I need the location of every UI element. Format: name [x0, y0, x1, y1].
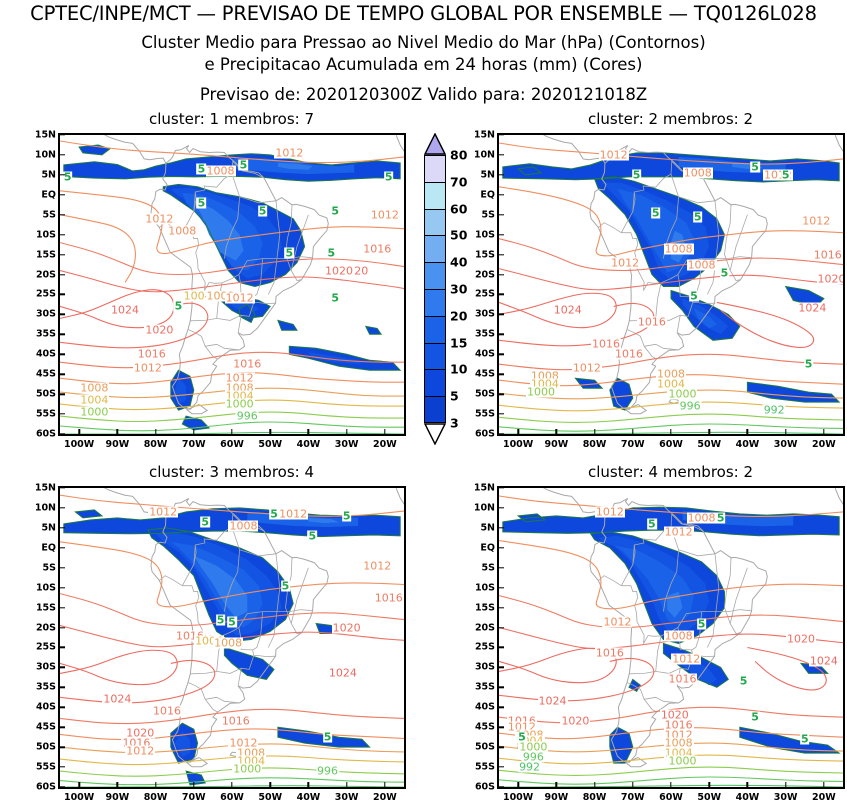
map-panel-cluster-2[interactable]: 1012100810121012100810121008101610201024…	[497, 133, 845, 436]
contour-label: 1016	[137, 349, 167, 360]
colorbar-tick-label: 5	[450, 389, 459, 404]
x-tick-mark	[270, 782, 271, 787]
y-tick-mark	[499, 726, 504, 727]
y-tick-mark	[60, 174, 65, 175]
y-tick-mark	[499, 214, 504, 215]
contour-label: 1012	[610, 257, 640, 268]
colorbar-arrow-high-outline	[424, 133, 446, 155]
contour-label: 1016	[667, 674, 697, 685]
y-axis-label: 45S	[26, 369, 56, 380]
x-axis-label: 90W	[544, 792, 568, 803]
x-tick-mark	[785, 782, 786, 787]
y-axis-label: 30S	[465, 662, 495, 673]
y-tick-mark	[60, 726, 65, 727]
y-tick-mark	[499, 433, 504, 434]
x-tick-mark	[308, 429, 309, 434]
x-tick-mark	[231, 782, 232, 787]
x-axis-label: 40W	[297, 439, 321, 450]
colorbar-segment	[424, 316, 446, 343]
y-axis-label: 5N	[465, 169, 495, 180]
x-axis-label: 60W	[220, 792, 244, 803]
y-tick-mark	[60, 587, 65, 588]
contour-label: 1016	[614, 349, 644, 360]
y-tick-mark	[499, 274, 504, 275]
precip-isoline-label: 5	[716, 512, 726, 523]
y-tick-mark	[60, 393, 65, 394]
precip-isoline-label: 5	[781, 169, 791, 180]
y-tick-mark	[499, 254, 504, 255]
contour-label: 1012	[362, 560, 392, 571]
x-tick-mark	[747, 429, 748, 434]
x-axis-label: 70W	[182, 792, 206, 803]
y-axis-label: 5N	[26, 522, 56, 533]
x-axis-label: 100W	[64, 439, 94, 450]
x-axis-label: 70W	[621, 792, 645, 803]
x-tick-mark	[517, 782, 518, 787]
contour-label: 1012	[144, 213, 174, 224]
y-tick-mark	[499, 487, 504, 488]
forecast-datetime-line: Previsao de: 2020120300Z Valido para: 20…	[0, 85, 847, 104]
y-tick-mark	[60, 433, 65, 434]
y-axis-label: 50S	[26, 389, 56, 400]
precip-isoline-label: 5	[327, 247, 337, 258]
x-tick-mark	[632, 782, 633, 787]
y-tick-mark	[60, 294, 65, 295]
precip-isoline-label: 5	[174, 301, 184, 312]
contour-label: 1016	[637, 317, 667, 328]
contour-label: 1008	[167, 225, 197, 236]
x-tick-mark	[594, 782, 595, 787]
y-tick-mark	[499, 413, 504, 414]
y-tick-mark	[499, 194, 504, 195]
y-tick-mark	[499, 234, 504, 235]
y-tick-mark	[60, 567, 65, 568]
x-tick-mark	[556, 782, 557, 787]
contour-label: 1024	[553, 305, 583, 316]
y-axis-label: 25S	[465, 289, 495, 300]
colorbar-segment	[424, 369, 446, 396]
y-axis-label: 10S	[26, 582, 56, 593]
contour-label: 1012	[125, 746, 155, 757]
contour-label: 1000	[667, 389, 697, 400]
y-axis-label: 15N	[465, 483, 495, 494]
contour-label: 1000	[526, 387, 556, 398]
contour-label: 996	[316, 766, 339, 777]
precip-isoline-label: 5	[197, 197, 207, 208]
panel-title-cluster-1: cluster: 1 membros: 7	[58, 110, 405, 128]
contour-label: 1012	[671, 654, 701, 665]
y-tick-mark	[60, 373, 65, 374]
precip-isoline-label: 5	[285, 247, 295, 258]
x-axis-label: 50W	[258, 792, 282, 803]
x-tick-mark	[193, 782, 194, 787]
y-tick-mark	[60, 707, 65, 708]
panel-title-cluster-3: cluster: 3 membros: 4	[58, 463, 405, 481]
contour-label: 1008	[687, 259, 717, 270]
x-tick-mark	[78, 429, 79, 434]
x-axis-label: 70W	[182, 439, 206, 450]
y-axis-label: 15S	[26, 249, 56, 260]
colorbar-segment	[424, 262, 446, 289]
y-axis-label: 40S	[465, 349, 495, 360]
precip-isoline-label: 5	[647, 518, 657, 529]
x-axis-label: 60W	[659, 792, 683, 803]
y-tick-mark	[60, 786, 65, 787]
precip-isoline-label: 5	[323, 732, 333, 743]
map-panel-cluster-1[interactable]: 1012100810121012100810161020102410201016…	[58, 133, 406, 436]
x-tick-mark	[785, 429, 786, 434]
contour-label: 1012	[278, 508, 308, 519]
x-tick-mark	[346, 429, 347, 434]
precip-isoline-label: 5	[63, 171, 73, 182]
contour-label: 1004	[79, 395, 109, 406]
precip-isoline-label: 5	[651, 207, 661, 218]
y-axis-label: 25S	[465, 642, 495, 653]
contour-label: 1008	[213, 638, 243, 649]
y-tick-mark	[60, 274, 65, 275]
y-tick-mark	[60, 134, 65, 135]
contour-label: 1008	[79, 383, 109, 394]
x-axis-label: 90W	[105, 439, 129, 450]
x-axis-label: 50W	[697, 792, 721, 803]
y-axis-label: 50S	[465, 742, 495, 753]
contour-label: 1024	[797, 303, 827, 314]
y-tick-mark	[60, 194, 65, 195]
precip-isoline-label: 5	[800, 734, 810, 745]
y-tick-mark	[499, 647, 504, 648]
y-tick-mark	[499, 154, 504, 155]
contour-label: 1012	[801, 215, 831, 226]
y-tick-mark	[60, 487, 65, 488]
y-axis-label: 30S	[26, 309, 56, 320]
contour-label: 1016	[595, 648, 625, 659]
colorbar-tick-label: 3	[450, 416, 459, 431]
y-tick-mark	[499, 547, 504, 548]
y-tick-mark	[499, 667, 504, 668]
x-axis-label: 90W	[544, 439, 568, 450]
y-tick-mark	[60, 214, 65, 215]
panel-title-cluster-2: cluster: 2 membros: 2	[497, 110, 844, 128]
precip-isoline-label: 5	[689, 291, 699, 302]
contour-label: 1016	[813, 249, 843, 260]
precip-isoline-label: 5	[200, 516, 210, 527]
y-tick-mark	[499, 314, 504, 315]
y-axis-label: 55S	[26, 762, 56, 773]
x-tick-mark	[231, 429, 232, 434]
y-tick-mark	[60, 667, 65, 668]
contour-label: 1020	[786, 634, 816, 645]
y-axis-label: 50S	[465, 389, 495, 400]
x-tick-mark	[117, 429, 118, 434]
colorbar-segment	[424, 235, 446, 262]
contour-label: 1016	[232, 359, 262, 370]
precip-isoline-label: 5	[330, 205, 340, 216]
x-axis-label: 80W	[144, 439, 168, 450]
y-tick-mark	[60, 687, 65, 688]
y-axis-label: 10S	[26, 229, 56, 240]
y-axis-label: 30S	[465, 309, 495, 320]
precip-isoline-label: 5	[258, 205, 268, 216]
x-tick-mark	[155, 782, 156, 787]
y-axis-label: 15N	[465, 130, 495, 141]
x-tick-mark	[308, 782, 309, 787]
x-axis-label: 30W	[774, 439, 798, 450]
y-axis-label: 5N	[26, 169, 56, 180]
contour-label: 1008	[683, 167, 713, 178]
precip-isoline-label: 5	[517, 732, 527, 743]
y-axis-label: 10N	[465, 149, 495, 160]
y-axis-label: EQ	[26, 542, 56, 553]
contour-label: 1024	[102, 694, 132, 705]
precip-isoline-label: 5	[269, 508, 279, 519]
contour-label: 1012	[602, 616, 632, 627]
x-axis-label: 40W	[736, 792, 760, 803]
y-tick-mark	[499, 746, 504, 747]
colorbar-segment	[424, 155, 446, 182]
contour-label: 1008	[687, 512, 717, 523]
y-axis-label: 20S	[26, 269, 56, 280]
y-axis-label: 25S	[26, 289, 56, 300]
y-tick-mark	[60, 746, 65, 747]
contour-label: 1020	[817, 273, 845, 284]
contour-label: 1000	[225, 399, 255, 410]
x-axis-label: 80W	[583, 439, 607, 450]
x-tick-mark	[709, 782, 710, 787]
contour-label: 1024	[110, 305, 140, 316]
y-axis-label: 60S	[26, 782, 56, 793]
y-axis-label: 45S	[465, 369, 495, 380]
x-tick-mark	[747, 782, 748, 787]
x-axis-label: 100W	[503, 439, 533, 450]
colorbar-segment	[424, 396, 446, 423]
y-tick-mark	[60, 254, 65, 255]
x-tick-mark	[384, 429, 385, 434]
y-tick-mark	[499, 567, 504, 568]
contour-label: 1000	[79, 407, 109, 418]
y-axis-label: 30S	[26, 662, 56, 673]
contour-label: 1024	[809, 656, 839, 667]
precip-isoline-label: 5	[307, 530, 317, 541]
y-axis-label: 5S	[26, 562, 56, 573]
y-axis-label: 40S	[26, 349, 56, 360]
y-tick-mark	[499, 354, 504, 355]
contour-label: 1012	[664, 526, 694, 537]
y-axis-label: 5S	[465, 209, 495, 220]
x-tick-mark	[384, 782, 385, 787]
y-tick-mark	[60, 507, 65, 508]
contour-label: 1020	[144, 325, 174, 336]
y-tick-mark	[60, 154, 65, 155]
y-axis-label: 5N	[465, 522, 495, 533]
map-panel-cluster-4[interactable]: 1012100810121012100810161012102010241016…	[497, 486, 845, 789]
y-tick-mark	[499, 393, 504, 394]
y-axis-label: 15N	[26, 483, 56, 494]
x-tick-mark	[346, 782, 347, 787]
y-tick-mark	[499, 507, 504, 508]
precip-isoline-label: 5	[750, 161, 760, 172]
y-axis-label: 10S	[465, 229, 495, 240]
y-tick-mark	[499, 373, 504, 374]
y-tick-mark	[60, 766, 65, 767]
contour-label: 1012	[595, 506, 625, 517]
x-axis-label: 100W	[503, 792, 533, 803]
contour-label: 1020	[332, 622, 362, 633]
y-tick-mark	[60, 334, 65, 335]
precip-isoline-label: 5	[342, 510, 352, 521]
y-tick-mark	[60, 547, 65, 548]
y-axis-label: 45S	[465, 722, 495, 733]
contour-label: 1012	[274, 147, 304, 158]
y-tick-mark	[60, 527, 65, 528]
y-tick-mark	[499, 527, 504, 528]
y-axis-label: 40S	[26, 702, 56, 713]
y-tick-mark	[499, 134, 504, 135]
y-tick-mark	[499, 587, 504, 588]
subtitle-line-1: Cluster Medio para Pressao ao Nivel Medi…	[0, 33, 847, 52]
y-axis-label: 20S	[465, 269, 495, 280]
x-axis-label: 80W	[583, 792, 607, 803]
y-axis-label: 35S	[465, 682, 495, 693]
y-tick-mark	[60, 234, 65, 235]
y-axis-label: 60S	[26, 429, 56, 440]
contour-label: 1012	[572, 363, 602, 374]
subtitle-line-2: e Precipitacao Acumulada em 24 horas (mm…	[0, 55, 847, 74]
precip-isoline-label: 5	[804, 359, 814, 370]
x-tick-mark	[556, 429, 557, 434]
y-tick-mark	[60, 627, 65, 628]
y-axis-label: 35S	[465, 329, 495, 340]
y-tick-mark	[60, 647, 65, 648]
y-axis-label: 35S	[26, 329, 56, 340]
map-panel-cluster-3[interactable]: 1012101210081012101610161004100810201024…	[58, 486, 406, 789]
x-tick-mark	[270, 429, 271, 434]
contour-label: 996	[236, 411, 259, 422]
y-axis-label: 10N	[26, 149, 56, 160]
contour-label: 992	[763, 405, 786, 416]
y-axis-label: 15N	[26, 130, 56, 141]
contour-label: 1024	[328, 668, 358, 679]
precip-isoline-label: 5	[330, 293, 340, 304]
contour-label: 1024	[538, 696, 568, 707]
precip-isoline-label: 5	[720, 267, 730, 278]
colorbar-segment	[424, 343, 446, 370]
x-axis-label: 20W	[373, 792, 397, 803]
precip-isoline-label: 5	[239, 159, 249, 170]
y-axis-label: 15S	[465, 602, 495, 613]
contour-label: 1012	[225, 293, 255, 304]
y-axis-label: 60S	[465, 782, 495, 793]
precip-isoline-label: 5	[739, 676, 749, 687]
contour-label: 1000	[667, 756, 697, 767]
y-axis-label: 50S	[26, 742, 56, 753]
precip-isoline-label: 5	[281, 580, 291, 591]
x-tick-mark	[670, 429, 671, 434]
y-axis-label: 55S	[26, 409, 56, 420]
y-axis-label: 55S	[465, 409, 495, 420]
precip-isoline-label: 5	[693, 211, 703, 222]
precip-isoline-label: 5	[632, 169, 642, 180]
y-tick-mark	[499, 707, 504, 708]
contour-label: 1020	[324, 265, 354, 276]
x-tick-mark	[823, 782, 824, 787]
x-axis-label: 30W	[335, 792, 359, 803]
contour-label: 1008	[664, 630, 694, 641]
x-axis-label: 50W	[258, 439, 282, 450]
y-axis-label: 40S	[465, 702, 495, 713]
x-tick-mark	[193, 429, 194, 434]
contour-label: 1012	[148, 506, 178, 517]
colorbar-arrow-low	[424, 423, 446, 445]
x-axis-label: 60W	[659, 439, 683, 450]
precip-isoline-label: 5	[697, 618, 707, 629]
contour-label: 992	[518, 762, 541, 773]
precip-isoline-label: 5	[197, 163, 207, 174]
y-axis-label: EQ	[465, 189, 495, 200]
x-tick-mark	[155, 429, 156, 434]
x-axis-label: 90W	[105, 792, 129, 803]
x-tick-mark	[594, 429, 595, 434]
contour-label: 996	[679, 401, 702, 412]
page-title: CPTEC/INPE/MCT — PREVISAO DE TEMPO GLOBA…	[0, 2, 847, 25]
y-tick-mark	[60, 354, 65, 355]
x-tick-mark	[117, 782, 118, 787]
x-axis-label: 60W	[220, 439, 244, 450]
x-axis-label: 20W	[812, 792, 836, 803]
contour-label: 1016	[152, 706, 182, 717]
colorbar-segment	[424, 209, 446, 236]
y-axis-label: 10N	[465, 502, 495, 513]
contour-label: 1008	[664, 243, 694, 254]
contour-label: 1016	[221, 716, 251, 727]
y-tick-mark	[60, 607, 65, 608]
precip-isoline-label: 5	[384, 171, 394, 182]
panel-title-cluster-4: cluster: 4 membros: 2	[497, 463, 844, 481]
y-axis-label: 35S	[26, 682, 56, 693]
contour-label: 1000	[232, 764, 262, 775]
y-tick-mark	[499, 627, 504, 628]
y-tick-mark	[499, 766, 504, 767]
x-axis-label: 70W	[621, 439, 645, 450]
contour-label: 1016	[362, 243, 392, 254]
y-axis-label: 10S	[465, 582, 495, 593]
precipitation-colorbar: 80706050403020151053	[424, 133, 446, 433]
x-tick-mark	[632, 429, 633, 434]
y-axis-label: 25S	[26, 642, 56, 653]
y-tick-mark	[499, 174, 504, 175]
y-tick-mark	[499, 786, 504, 787]
y-axis-label: 20S	[26, 622, 56, 633]
y-axis-label: 60S	[465, 429, 495, 440]
x-tick-mark	[709, 429, 710, 434]
contour-label: 1012	[133, 363, 163, 374]
x-axis-label: 40W	[297, 792, 321, 803]
x-axis-label: 20W	[373, 439, 397, 450]
x-tick-mark	[78, 782, 79, 787]
y-tick-mark	[60, 314, 65, 315]
contour-label: 1016	[374, 592, 404, 603]
x-axis-label: 50W	[697, 439, 721, 450]
x-tick-mark	[823, 429, 824, 434]
y-axis-label: 55S	[465, 762, 495, 773]
x-axis-label: 30W	[774, 792, 798, 803]
y-axis-label: 10N	[26, 502, 56, 513]
x-axis-label: 100W	[64, 792, 94, 803]
x-axis-label: 20W	[812, 439, 836, 450]
y-tick-mark	[499, 687, 504, 688]
y-tick-mark	[499, 334, 504, 335]
contour-label: 1012	[370, 209, 400, 220]
colorbar-segment	[424, 289, 446, 316]
